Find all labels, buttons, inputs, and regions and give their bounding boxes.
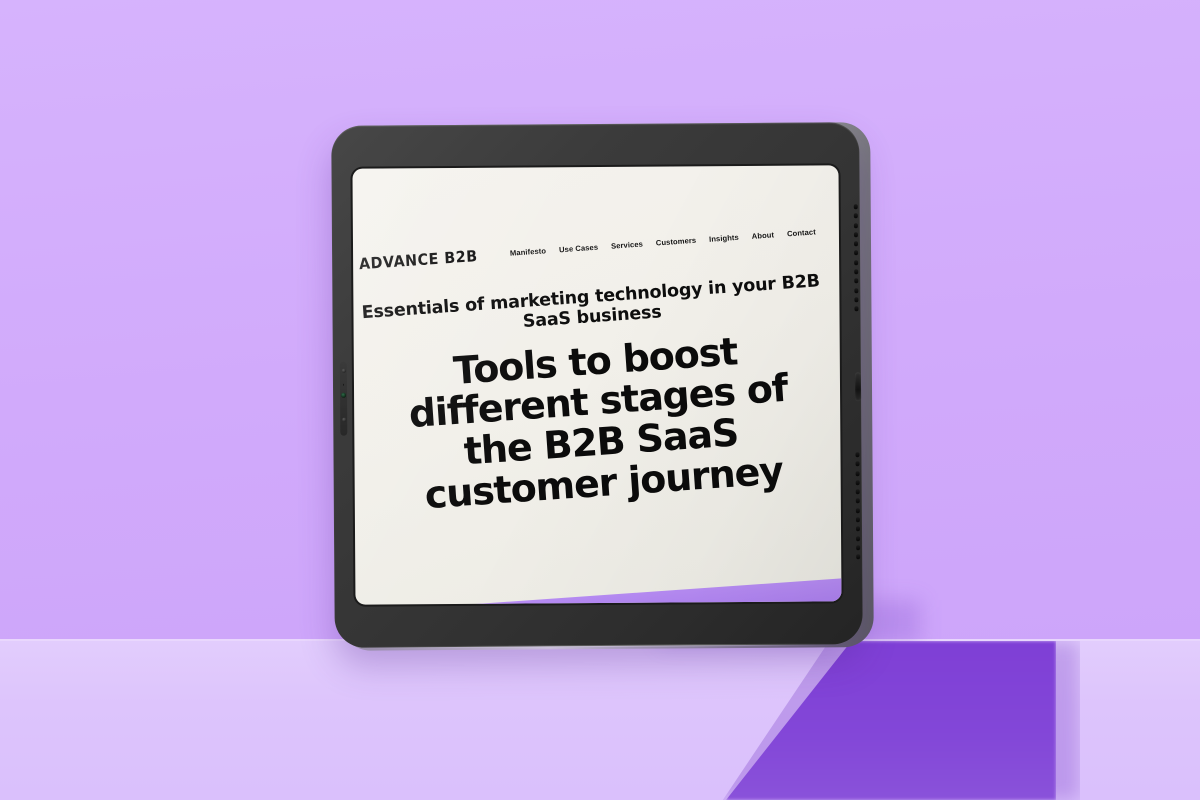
main-navigation: Manifesto Use Cases Services Customers I…: [510, 227, 817, 262]
nav-item-insights[interactable]: Insights: [709, 233, 739, 244]
site-logo[interactable]: ADVANCE B2B: [359, 247, 479, 273]
site-header: ADVANCE B2B Manifesto Use Cases Services…: [352, 187, 841, 276]
scene: ADVANCE B2B Manifesto Use Cases Services…: [0, 0, 1200, 800]
speaker-grille-top: [854, 204, 859, 311]
device-screen: ADVANCE B2B Manifesto Use Cases Services…: [352, 165, 841, 604]
page-bottom-band: [352, 576, 841, 605]
nav-item-contact[interactable]: Contact: [787, 227, 816, 238]
tablet-device: ADVANCE B2B Manifesto Use Cases Services…: [331, 122, 868, 651]
nav-item-services[interactable]: Services: [611, 239, 643, 250]
sensor-icon: [341, 393, 346, 398]
camera-lens-icon: [341, 369, 345, 373]
hero-headline: Tools to boost different stages of the B…: [363, 325, 835, 519]
speaker-grille-bottom: [855, 452, 860, 559]
hero-section: Essentials of marketing technology in yo…: [352, 269, 841, 522]
web-page: ADVANCE B2B Manifesto Use Cases Services…: [352, 165, 841, 604]
nav-item-manifesto[interactable]: Manifesto: [510, 246, 547, 258]
nav-item-use-cases[interactable]: Use Cases: [559, 243, 599, 255]
nav-item-about[interactable]: About: [751, 230, 774, 241]
nav-item-customers[interactable]: Customers: [656, 236, 697, 248]
side-button[interactable]: [854, 372, 860, 401]
rear-camera-module: [340, 362, 348, 436]
flash-icon: [342, 418, 346, 422]
microphone-icon: [343, 384, 345, 386]
